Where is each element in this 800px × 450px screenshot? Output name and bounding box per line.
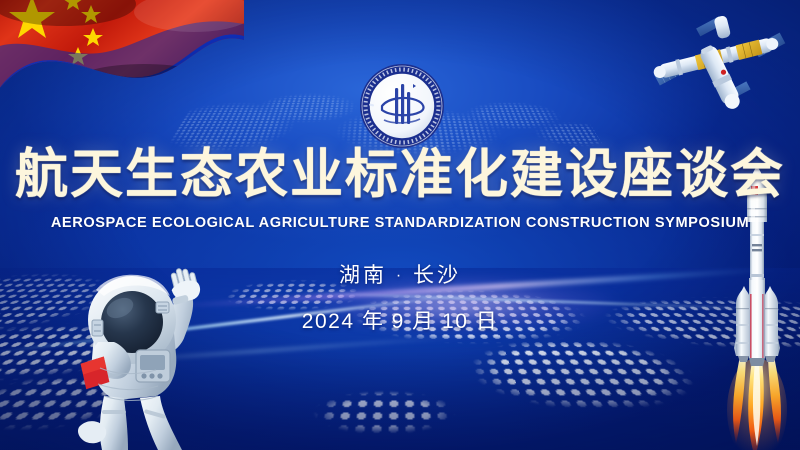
event-date: 2024 年 9 月 10 日 bbox=[0, 305, 800, 335]
china-flag-icon bbox=[0, 0, 244, 98]
location-city: 长沙 bbox=[413, 264, 461, 287]
page-subtitle-english: AEROSPACE ECOLOGICAL AGRICULTURE STANDAR… bbox=[16, 214, 784, 231]
poster-text-block: 航天生态农业标准化建设座谈会 AEROSPACE ECOLOGICAL AGRI… bbox=[0, 148, 800, 335]
location-separator: · bbox=[396, 267, 404, 284]
location-province: 湖南 bbox=[339, 264, 387, 287]
organization-seal bbox=[358, 62, 446, 150]
page-title: 航天生态农业标准化建设座谈会 bbox=[0, 148, 800, 201]
tiangong-space-station-icon bbox=[628, 0, 800, 114]
event-location: 湖南 · 长沙 bbox=[0, 259, 800, 289]
event-poster: 航天生态农业标准化建设座谈会 AEROSPACE ECOLOGICAL AGRI… bbox=[0, 0, 800, 450]
